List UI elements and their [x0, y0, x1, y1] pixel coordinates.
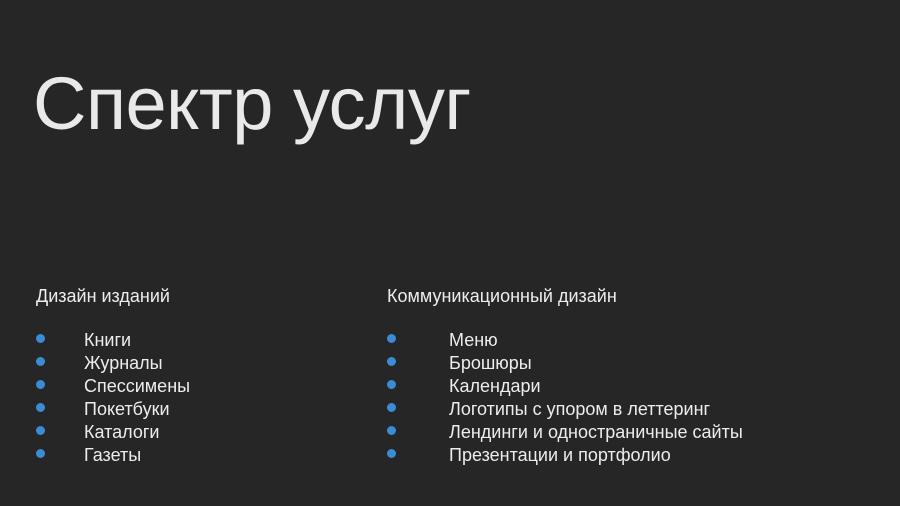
list-item: Спессимены [36, 375, 366, 398]
list-item-label: Покетбуки [84, 398, 170, 421]
list-item: Книги [36, 329, 366, 352]
list-item-label: Брошюры [449, 352, 532, 375]
list-item: Презентации и портфолио [387, 444, 887, 467]
list-item-label: Книги [84, 329, 131, 352]
bullet-dot-icon [387, 357, 396, 366]
list-item: Логотипы с упором в леттеринг [387, 398, 887, 421]
column-communication-design: Коммуникационный дизайн Меню Брошюры Кал… [387, 285, 887, 467]
list-item-label: Журналы [84, 352, 163, 375]
bullet-dot-icon [387, 449, 396, 458]
list-item: Каталоги [36, 421, 366, 444]
presentation-slide: Спектр услуг Дизайн изданий Книги Журнал… [0, 0, 900, 506]
list-item: Календари [387, 375, 887, 398]
bullet-dot-icon [387, 426, 396, 435]
bullet-dot-icon [36, 357, 45, 366]
list-item-label: Меню [449, 329, 498, 352]
list-item-label: Лендинги и одностраничные сайты [449, 421, 743, 444]
bullet-dot-icon [36, 403, 45, 412]
list-item-label: Каталоги [84, 421, 160, 444]
bullet-dot-icon [36, 334, 45, 343]
list-item: Лендинги и одностраничные сайты [387, 421, 887, 444]
bullet-dot-icon [387, 334, 396, 343]
list-item-label: Логотипы с упором в леттеринг [449, 398, 710, 421]
list-item-label: Газеты [84, 444, 141, 467]
list-item: Журналы [36, 352, 366, 375]
list-item-label: Презентации и портфолио [449, 444, 671, 467]
list-item: Покетбуки [36, 398, 366, 421]
bullet-dot-icon [387, 403, 396, 412]
list-item: Брошюры [387, 352, 887, 375]
list-item: Меню [387, 329, 887, 352]
column-heading-communication-design: Коммуникационный дизайн [387, 285, 887, 307]
list-item-label: Календари [449, 375, 541, 398]
bullet-list-communication-design: Меню Брошюры Календари Логотипы с упором… [387, 329, 887, 467]
bullet-dot-icon [387, 380, 396, 389]
column-heading-design-editions: Дизайн изданий [36, 285, 366, 307]
list-item-label: Спессимены [84, 375, 190, 398]
page-title: Спектр услуг [33, 67, 471, 141]
bullet-dot-icon [36, 380, 45, 389]
bullet-list-design-editions: Книги Журналы Спессимены Покетбуки Катал… [36, 329, 366, 467]
bullet-dot-icon [36, 426, 45, 435]
list-item: Газеты [36, 444, 366, 467]
column-design-editions: Дизайн изданий Книги Журналы Спессимены … [36, 285, 366, 467]
bullet-dot-icon [36, 449, 45, 458]
